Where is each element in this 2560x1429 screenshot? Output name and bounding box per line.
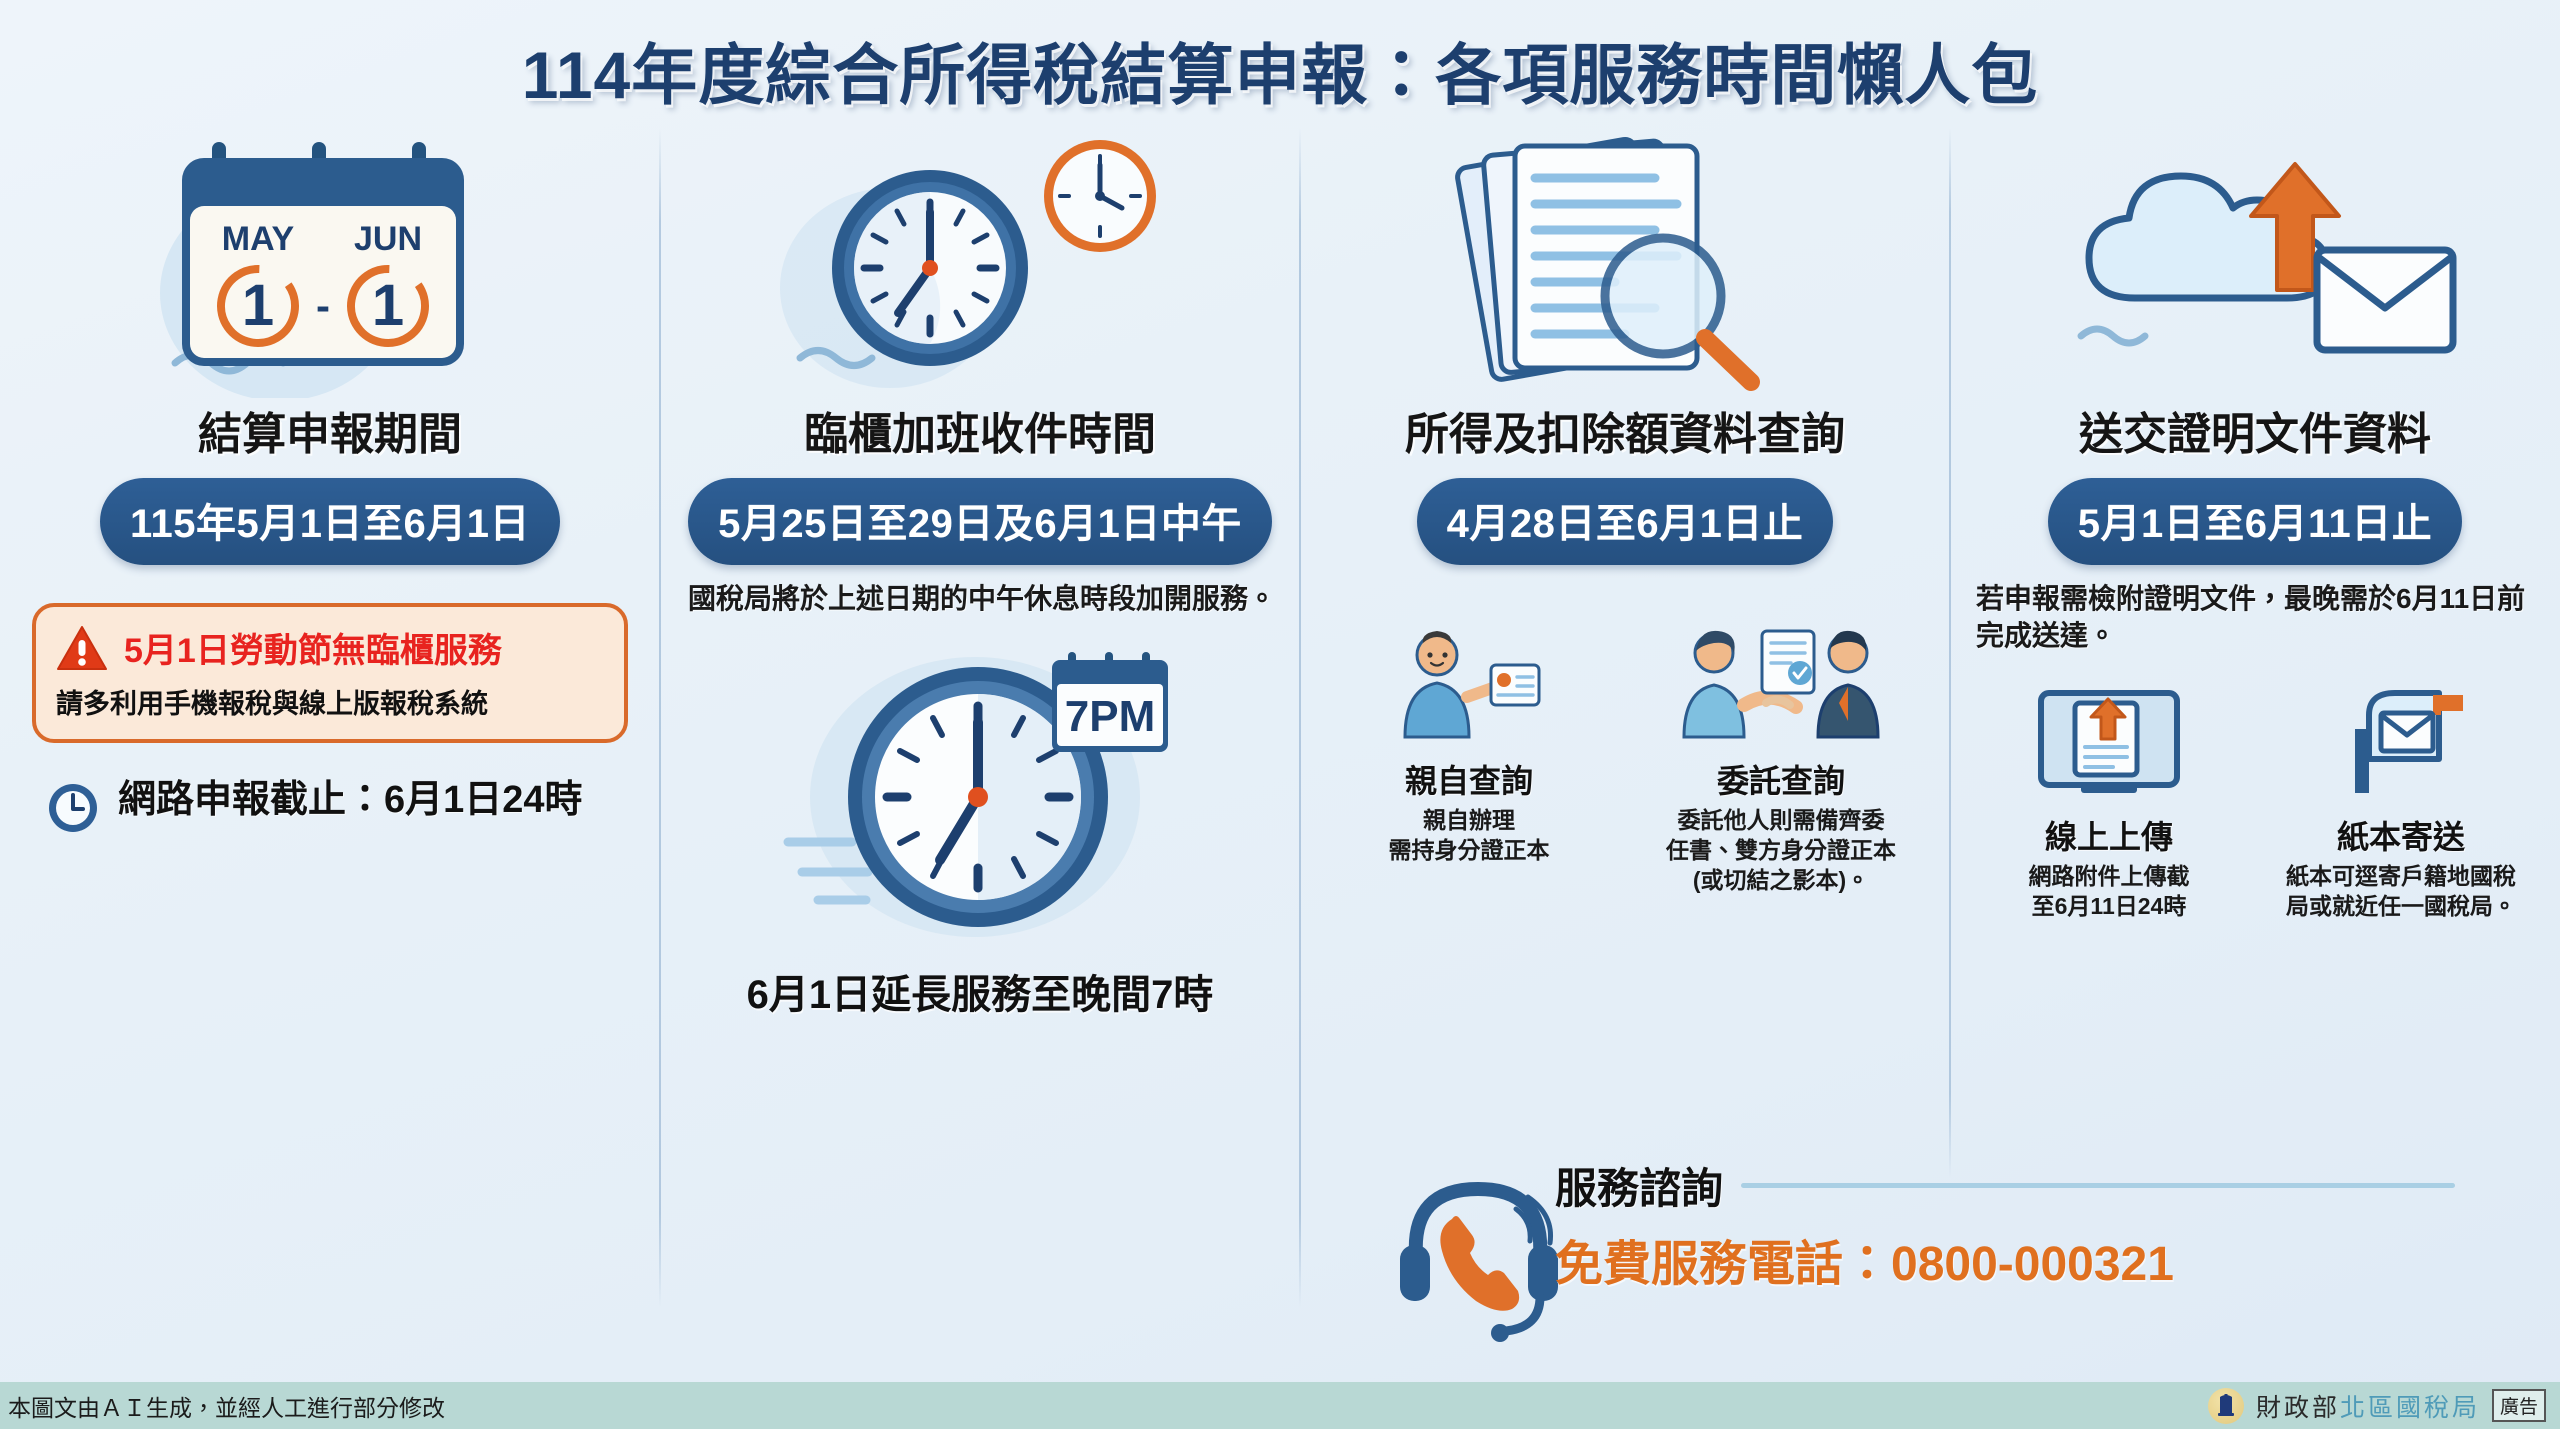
section-heading-counter-overtime: 臨櫃加班收件時間	[678, 398, 1282, 462]
agency-seal-icon	[2208, 1388, 2244, 1424]
pill-filing-period: 115年5月1日至6月1日	[100, 478, 560, 565]
documents-magnifier-icon	[1415, 128, 1835, 398]
consultation-heading: 服務諮詢	[1555, 1155, 1723, 1216]
submit-method-title: 線上上傳	[1968, 812, 2250, 858]
query-methods: 親自查詢 親自辦理 需持身分證正本	[1318, 625, 1932, 896]
online-deadline-text: 網路申報截止：6月1日24時	[118, 777, 583, 825]
handshake-documents-icon	[1666, 625, 1896, 745]
column-counter-overtime: 臨櫃加班收件時間 5月25日至29日及6月1日中午 國稅局將於上述日期的中午休息…	[660, 128, 1300, 1368]
submit-method-desc: 紙本可逕寄戶籍地國稅 局或就近任一國稅局。	[2260, 862, 2542, 922]
ministry-emblem-icon	[2211, 1391, 2241, 1421]
section-heading-submit-documents: 送交證明文件資料	[1968, 398, 2542, 462]
consultation-rule	[1741, 1183, 2455, 1188]
warning-triangle-icon	[56, 624, 108, 672]
clock-icon	[46, 781, 100, 835]
support-headset-illustration	[1380, 1145, 1580, 1350]
footer-disclaimer: 本圖文由ＡＩ生成，並經人工進行部分修改	[8, 1389, 445, 1423]
warning-subtitle: 請多利用手機報稅與線上版報稅系統	[56, 682, 602, 721]
service-consultation: 服務諮詢 免費服務電話：0800-000321	[1555, 1155, 2455, 1294]
submit-methods: 線上上傳 網路附件上傳截 至6月11日24時 紙本寄送 紙本可逕寄戶籍地國稅 局…	[1968, 681, 2542, 922]
monitor-upload-icon	[2019, 681, 2199, 801]
agency-name: 財政部北區國稅局	[2256, 1388, 2480, 1424]
submit-documents-note: 若申報需檢附證明文件，最晚需於6月11日前完成送達。	[1976, 581, 2542, 655]
calendar-left-day: 1	[242, 273, 274, 338]
query-method-desc: 委託他人則需備齊委 任書、雙方身分證正本 (或切結之影本)。	[1630, 806, 1932, 896]
pill-submit-documents: 5月1日至6月11日止	[2048, 478, 2463, 565]
query-method-in-person: 親自查詢 親自辦理 需持身分證正本	[1318, 625, 1620, 896]
clocks-illustration	[678, 128, 1282, 398]
consultation-phone: 免費服務電話：0800-000321	[1555, 1224, 2455, 1294]
submit-method-title: 紙本寄送	[2260, 812, 2542, 858]
page-title: 114年度綜合所得稅結算申報：各項服務時間懶人包	[0, 22, 2560, 118]
calendar-right-day: 1	[372, 273, 404, 338]
agency-name-prefix: 財政部	[2256, 1394, 2340, 1422]
person-id-card-icon	[1379, 625, 1559, 745]
pill-income-query: 4月28日至6月1日止	[1417, 478, 1834, 565]
submit-method-desc: 網路附件上傳截 至6月11日24時	[1968, 862, 2250, 922]
documents-search-illustration	[1318, 128, 1932, 398]
evening-clock-illustration: 7PM	[678, 632, 1282, 962]
submit-method-mail: 紙本寄送 紙本可逕寄戶籍地國稅 局或就近任一國稅局。	[2260, 681, 2542, 922]
agency-name-suffix: 北區國稅局	[2340, 1394, 2480, 1422]
query-method-title: 委託查詢	[1630, 756, 1932, 802]
pill-counter-overtime: 5月25日至29日及6月1日中午	[688, 478, 1272, 565]
ad-badge: 廣告	[2492, 1389, 2546, 1422]
page-footer: 本圖文由ＡＩ生成，並經人工進行部分修改 財政部北區國稅局 廣告	[0, 1382, 2560, 1429]
calendar-badge-7pm: 7PM	[1065, 692, 1155, 741]
cloud-upload-illustration	[1968, 128, 2542, 398]
query-method-title: 親自查詢	[1318, 756, 1620, 802]
calendar-icon: MAY JUN 1 - 1	[120, 128, 540, 398]
calendar-right-month: JUN	[354, 220, 422, 258]
two-clocks-icon	[770, 128, 1190, 398]
headset-phone-icon	[1380, 1145, 1580, 1345]
evening-service-caption: 6月1日延長服務至晚間7時	[678, 962, 1282, 1020]
online-deadline-row: 網路申報截止：6月1日24時	[46, 777, 642, 835]
calendar-illustration: MAY JUN 1 - 1	[18, 128, 642, 398]
calendar-left-month: MAY	[222, 220, 295, 258]
footer-agency: 財政部北區國稅局 廣告	[2208, 1382, 2546, 1429]
query-method-desc: 親自辦理 需持身分證正本	[1318, 806, 1620, 866]
warning-title: 5月1日勞動節無臨櫃服務	[124, 623, 502, 672]
counter-overtime-note: 國稅局將於上述日期的中午休息時段加開服務。	[688, 581, 1282, 618]
cloud-envelope-icon	[2045, 128, 2465, 398]
submit-method-online: 線上上傳 網路附件上傳截 至6月11日24時	[1968, 681, 2250, 922]
column-filing-period: MAY JUN 1 - 1 結算申報期間 115年5月1日至6月1日 5月1日勞…	[0, 128, 660, 1368]
query-method-delegated: 委託查詢 委託他人則需備齊委 任書、雙方身分證正本 (或切結之影本)。	[1630, 625, 1932, 896]
warning-box: 5月1日勞動節無臨櫃服務 請多利用手機報稅與線上版報稅系統	[32, 603, 628, 743]
section-heading-filing-period: 結算申報期間	[18, 398, 642, 462]
section-heading-income-query: 所得及扣除額資料查詢	[1318, 398, 1932, 462]
mailbox-icon	[2311, 681, 2491, 801]
calendar-separator: -	[316, 282, 330, 329]
clock-7pm-icon: 7PM	[740, 632, 1220, 962]
page-header: 114年度綜合所得稅結算申報：各項服務時間懶人包	[0, 22, 2560, 118]
